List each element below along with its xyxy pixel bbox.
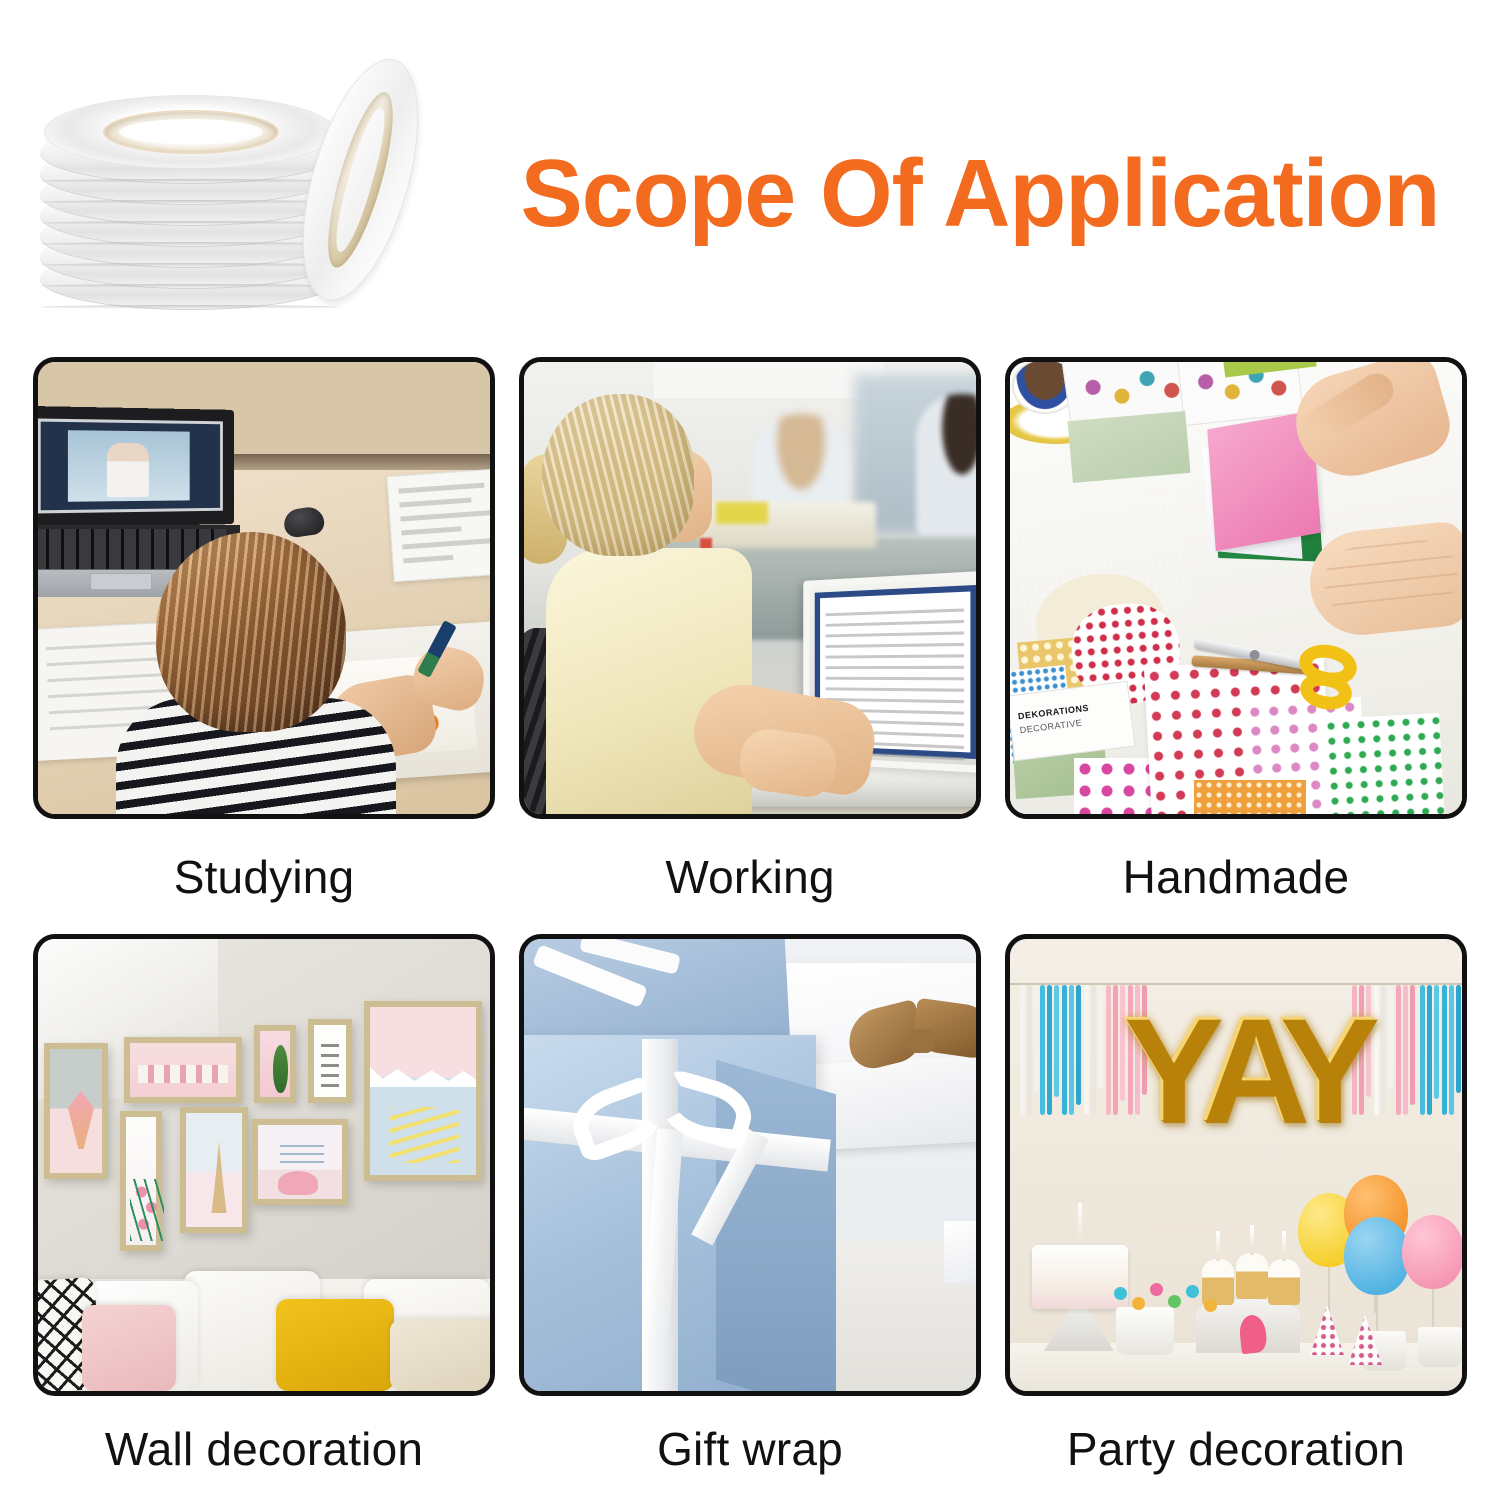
yay-foil-balloons: Y A Y bbox=[1122, 1005, 1362, 1155]
photo-gift-wrap bbox=[519, 934, 981, 1396]
grid-cell-working: Working bbox=[519, 357, 981, 934]
caption-handmade: Handmade bbox=[1005, 819, 1467, 934]
caption-studying: Studying bbox=[33, 819, 495, 934]
page-title: Scope Of Application bbox=[519, 146, 1441, 242]
caption-gift-wrap: Gift wrap bbox=[519, 1396, 981, 1500]
photo-studying bbox=[33, 357, 495, 819]
grid-cell-studying: Studying bbox=[33, 357, 495, 934]
application-grid: Studying bbox=[33, 357, 1467, 1500]
label-line-2: DECORATIVE bbox=[1019, 718, 1083, 736]
grid-cell-gift-wrap: Gift wrap bbox=[519, 934, 981, 1500]
photo-wall-decoration bbox=[33, 934, 495, 1396]
caption-party-decoration: Party decoration bbox=[1005, 1396, 1467, 1500]
grid-cell-party-decoration: Y A Y bbox=[1005, 934, 1467, 1500]
photo-party-decoration: Y A Y bbox=[1005, 934, 1467, 1396]
caption-wall-decoration: Wall decoration bbox=[33, 1396, 495, 1500]
balloon-letter-y1: Y bbox=[1122, 1005, 1192, 1151]
photo-handmade: DEKORATIONS DECORATIVE bbox=[1005, 357, 1467, 819]
grid-cell-handmade: DEKORATIONS DECORATIVE bbox=[1005, 357, 1467, 934]
caption-working: Working bbox=[519, 819, 981, 934]
balloon-letter-y2: Y bbox=[1278, 1005, 1348, 1151]
product-image-tape-rolls bbox=[30, 40, 510, 310]
brown-ribbon-bow bbox=[848, 1003, 976, 1077]
balloon-letter-a: A bbox=[1200, 1005, 1270, 1151]
infographic-page: Scope Of Application bbox=[0, 0, 1500, 1500]
grid-cell-wall-decoration: Wall decoration bbox=[33, 934, 495, 1500]
photo-working bbox=[519, 357, 981, 819]
hero-section: Scope Of Application bbox=[0, 0, 1500, 330]
